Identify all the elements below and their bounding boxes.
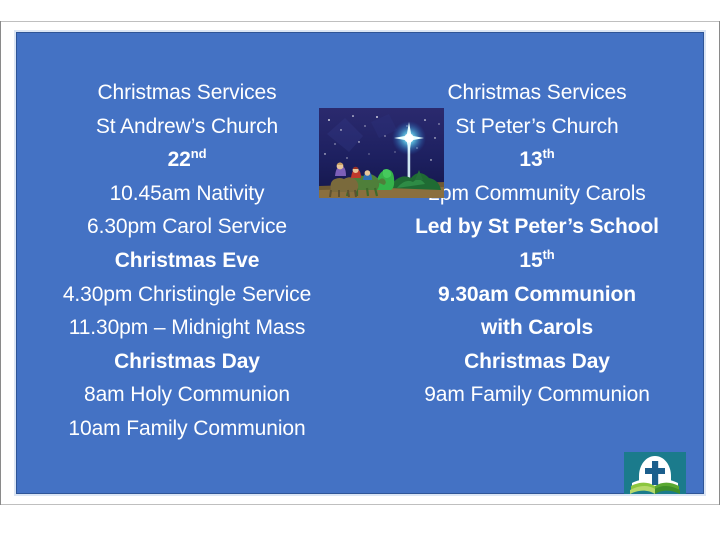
left-line-9: 8am Holy Communion [22, 378, 352, 412]
nativity-wise-men-star-image [319, 108, 444, 198]
right-line-4: Led by St Peter’s School [372, 210, 702, 244]
right-line-2-text: 13 [519, 148, 542, 171]
right-line-8: Christmas Day [372, 345, 702, 379]
left-line-7: 11.30pm – Midnight Mass [22, 311, 352, 345]
left-line-10-text: 10am Family Communion [68, 417, 305, 440]
logo-text-st: St. [633, 494, 644, 496]
left-line-8: Christmas Day [22, 345, 352, 379]
st-peters-and-andrews-logo: St. Peter’s & Andrew’s [624, 452, 686, 496]
left-line-4-text: 6.30pm Carol Service [87, 215, 287, 238]
left-line-9-text: 8am Holy Communion [84, 383, 290, 406]
left-line-8-text: Christmas Day [114, 350, 260, 373]
left-line-2: 22nd [22, 143, 352, 177]
slide-screen: Christmas Services St Andrew’s Church 22… [0, 0, 720, 540]
right-line-4-text: Led by St Peter’s School [415, 215, 659, 238]
right-line-3-text: 2pm Community Carols [428, 182, 645, 205]
left-line-2-ordinal-suffix: nd [191, 146, 207, 161]
right-line-7: with Carols [372, 311, 702, 345]
right-line-8-text: Christmas Day [464, 350, 610, 373]
right-line-9: 9am Family Communion [372, 378, 702, 412]
page-edge-left [0, 21, 1, 505]
st-andrews-services-column: Christmas Services St Andrew’s Church 22… [22, 76, 352, 446]
logo-text-peters: Peter’s & [648, 495, 671, 496]
left-line-10: 10am Family Communion [22, 412, 352, 446]
right-line-5-text: 15 [519, 249, 542, 272]
left-line-2-text: 22 [168, 148, 191, 171]
right-line-9-text: 9am Family Communion [424, 383, 650, 406]
left-line-6: 4.30pm Christingle Service [22, 278, 352, 312]
bottom-margin-strip [0, 505, 720, 540]
top-margin-strip [0, 0, 720, 21]
right-line-5: 15th [372, 244, 702, 278]
left-line-0-text: Christmas Services [97, 81, 276, 104]
left-line-6-text: 4.30pm Christingle Service [63, 283, 311, 306]
right-line-0: Christmas Services [372, 76, 702, 110]
left-line-1-text: St Andrew’s Church [96, 115, 278, 138]
right-line-0-text: Christmas Services [447, 81, 626, 104]
right-line-6-text: 9.30am Communion [438, 283, 636, 306]
left-line-7-text: 11.30pm – Midnight Mass [69, 316, 306, 339]
left-line-3-text: 10.45am Nativity [110, 182, 265, 205]
right-line-7-text: with Carols [481, 316, 593, 339]
right-line-5-ordinal-suffix: th [543, 247, 555, 262]
right-line-1-text: St Peter’s Church [455, 115, 618, 138]
left-line-1: St Andrew’s Church [22, 110, 352, 144]
left-line-0: Christmas Services [22, 76, 352, 110]
left-line-3: 10.45am Nativity [22, 177, 352, 211]
right-line-2-ordinal-suffix: th [543, 146, 555, 161]
left-line-5-text: Christmas Eve [115, 249, 260, 272]
christmas-services-slide: Christmas Services St Andrew’s Church 22… [14, 30, 706, 496]
left-line-4: 6.30pm Carol Service [22, 210, 352, 244]
right-line-6: 9.30am Communion [372, 278, 702, 312]
left-line-5: Christmas Eve [22, 244, 352, 278]
